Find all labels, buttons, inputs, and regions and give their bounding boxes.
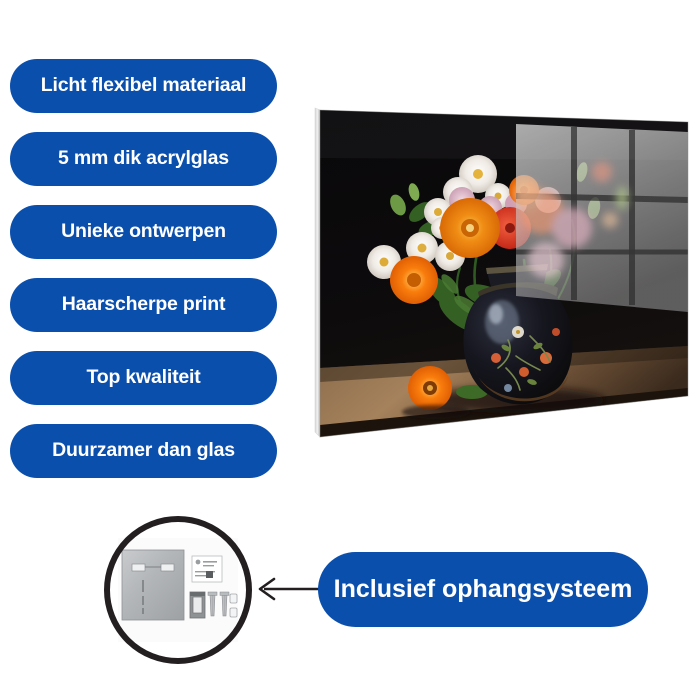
feature-pill-label: Haarscherpe print xyxy=(62,295,226,315)
feature-pill-unieke-ontwerpen[interactable]: Unieke ontwerpen xyxy=(10,205,277,259)
feature-pill-haarscherpe-print[interactable]: Haarscherpe print xyxy=(10,278,277,332)
feature-pill-label: 5 mm dik acrylglas xyxy=(58,149,229,169)
callout-pill-inclusief-ophangsysteem[interactable]: Inclusief ophangsysteem xyxy=(318,552,648,627)
feature-pill-label: Licht flexibel materiaal xyxy=(41,76,246,96)
detail-circle-outline xyxy=(104,516,252,664)
artwork-still-life xyxy=(310,100,695,450)
feature-pill-5-mm-dik-acrylglas[interactable]: 5 mm dik acrylglas xyxy=(10,132,277,186)
feature-pill-label: Duurzamer dan glas xyxy=(52,441,235,461)
hanging-system-detail-circle[interactable] xyxy=(104,516,252,664)
feature-pill-list: Licht flexibel materiaal 5 mm dik acrylg… xyxy=(10,59,277,497)
feature-pill-licht-flexibel-materiaal[interactable]: Licht flexibel materiaal xyxy=(10,59,277,113)
product-image-acrylic-print[interactable] xyxy=(310,100,695,450)
feature-pill-duurzamer-dan-glas[interactable]: Duurzamer dan glas xyxy=(10,424,277,478)
feature-pill-top-kwaliteit[interactable]: Top kwaliteit xyxy=(10,351,277,405)
feature-pill-label: Top kwaliteit xyxy=(86,368,200,388)
callout-pill-label: Inclusief ophangsysteem xyxy=(334,577,633,602)
product-feature-infographic: Licht flexibel materiaal 5 mm dik acrylg… xyxy=(0,0,700,700)
acrylic-edge-left xyxy=(315,108,320,437)
feature-pill-label: Unieke ontwerpen xyxy=(61,222,226,242)
